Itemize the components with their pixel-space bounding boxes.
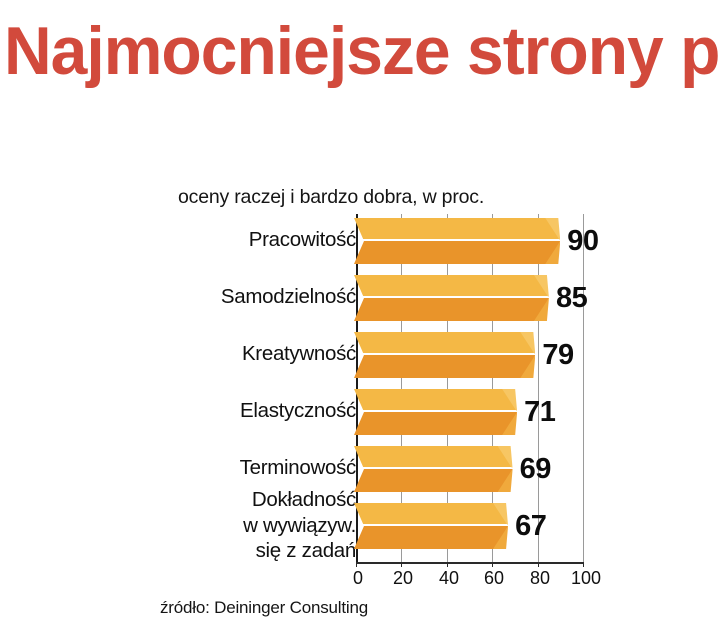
category-label: Elastyczność <box>56 398 356 423</box>
x-axis-ticklabel: 100 <box>571 568 601 589</box>
x-axis-tick <box>492 562 493 567</box>
x-axis-ticklabel: 60 <box>484 568 504 589</box>
category-label: Kreatywność <box>56 341 356 366</box>
bar-face <box>354 446 513 492</box>
value-label: 67 <box>515 510 546 543</box>
page-title: Najmocniejsze strony polskich szefów <box>4 8 695 94</box>
x-axis-line <box>356 562 584 564</box>
bar-pracowitosc <box>354 218 560 264</box>
value-label: 71 <box>524 396 555 429</box>
bar-face <box>354 218 560 264</box>
bar-kreatywnosc <box>354 332 535 378</box>
bar-face <box>354 275 549 321</box>
bar-row: Samodzielność 85 <box>0 271 720 327</box>
source-note: źródło: Deininger Consulting <box>160 598 368 618</box>
category-label: Pracowitość <box>56 227 356 252</box>
category-label: Terminowość <box>56 455 356 480</box>
x-axis-tick <box>447 562 448 567</box>
x-axis-ticklabel: 80 <box>530 568 550 589</box>
category-label: Dokładność w wywiązyw. się z zadań <box>56 487 356 564</box>
value-label: 79 <box>542 339 573 372</box>
x-axis-ticklabel: 0 <box>353 568 363 589</box>
bar-samodzielnosc <box>354 275 549 321</box>
x-axis-tick <box>401 562 402 567</box>
bar-row: Elastyczność 71 <box>0 385 720 441</box>
x-axis-ticklabel: 20 <box>393 568 413 589</box>
value-label: 85 <box>556 282 587 315</box>
bar-row: Pracowitość 90 <box>0 214 720 270</box>
value-label: 69 <box>520 453 551 486</box>
bar-row: Kreatywność 79 <box>0 328 720 384</box>
chart-subtitle: oceny raczej i bardzo dobra, w proc. <box>178 186 484 209</box>
x-axis-tick <box>356 562 357 567</box>
bar-face <box>354 503 508 549</box>
bar-row: Dokładność w wywiązyw. się z zadań 67 <box>0 499 720 555</box>
bar-terminowosc <box>354 446 513 492</box>
x-axis-tick <box>583 562 584 567</box>
bar-face <box>354 332 535 378</box>
value-label: 90 <box>567 225 598 258</box>
category-label: Samodzielność <box>56 284 356 309</box>
x-axis-tick <box>538 562 539 567</box>
bar-chart-plot: Pracowitość 90 Samodzielność 85 Kreatywn… <box>0 214 720 579</box>
bar-face <box>354 389 517 435</box>
x-axis-ticklabel: 40 <box>439 568 459 589</box>
bar-elastycznosc <box>354 389 517 435</box>
bar-dokladnosc <box>354 503 508 549</box>
